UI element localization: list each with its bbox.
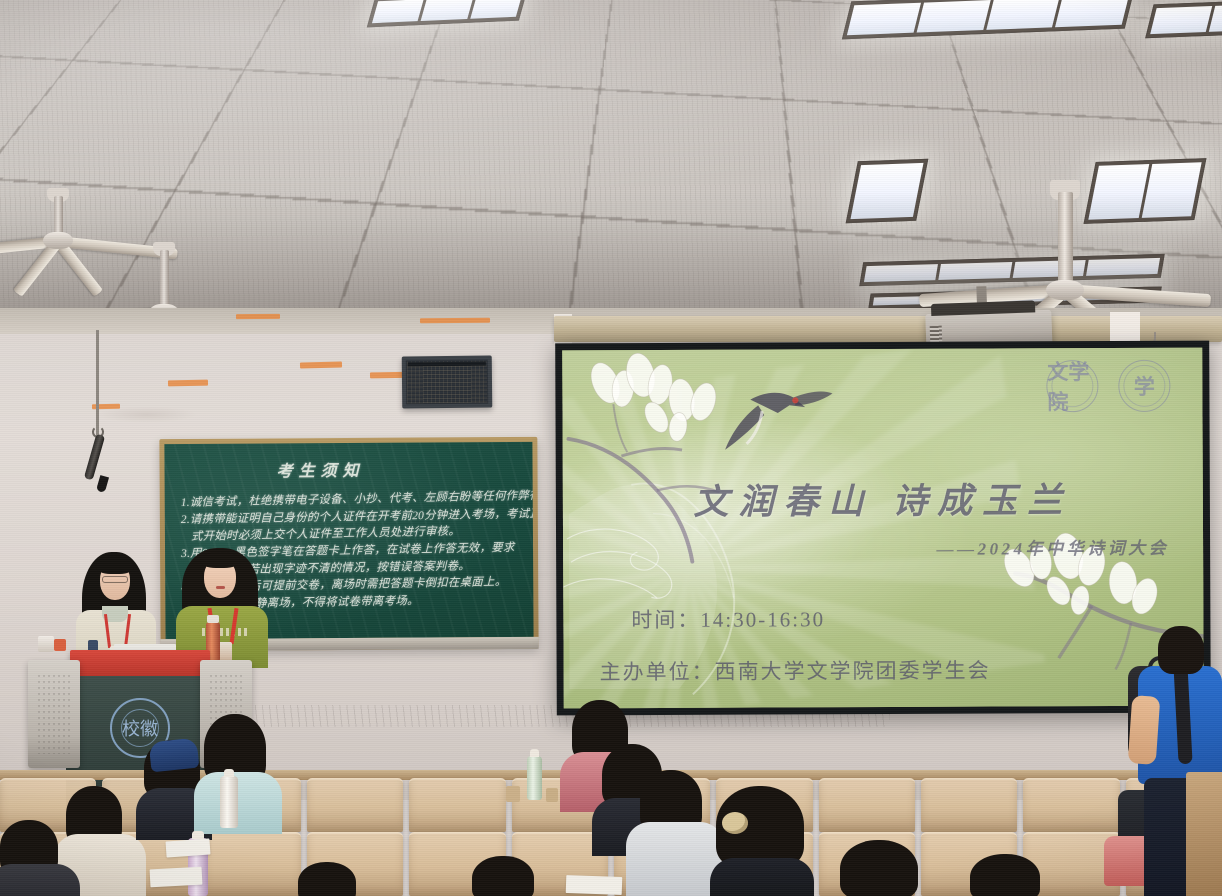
- audience-member: [0, 820, 70, 896]
- fan-hub: [43, 232, 73, 249]
- fan-rod: [1058, 192, 1073, 288]
- ceiling-fan: [8, 196, 108, 316]
- fan-rod: [160, 250, 169, 310]
- slide-time-line: 时间：14:30-16:30: [631, 603, 825, 634]
- audience-member: [968, 854, 1042, 896]
- wall-tape-mark: [420, 318, 490, 324]
- presenter-right: [176, 546, 268, 666]
- blackboard-title: 考生须知: [276, 457, 364, 482]
- blackboard-rule: 1.诚信考试，杜绝携带电子设备、小抄、代考、左顾右盼等任何作弊行为。: [181, 486, 534, 510]
- projector-top-plate: [931, 300, 1035, 316]
- seat[interactable]: [409, 778, 505, 832]
- student-head: [298, 862, 356, 896]
- monitor-screen: [407, 361, 487, 404]
- presenter-fringe: [200, 552, 240, 568]
- wall-tape-mark: [236, 314, 280, 319]
- audience-member: [836, 840, 922, 896]
- student-top: [0, 864, 80, 896]
- slide-title: 文润春山 诗成玉兰: [563, 472, 1203, 526]
- student-top: [710, 858, 814, 896]
- microphone-body: [84, 434, 105, 481]
- presenter-lips: [216, 586, 225, 589]
- presenter-glasses: [102, 576, 128, 583]
- paper-sheet: [165, 838, 210, 857]
- slide-organizer-line: 主办单位：西南大学文学院团委学生会: [600, 655, 991, 687]
- student-head: [970, 854, 1040, 896]
- bottle-cap: [530, 749, 539, 757]
- logo-ring: [1123, 365, 1165, 407]
- bottle-cap: [192, 831, 204, 839]
- audience-member: [296, 862, 356, 896]
- seat[interactable]: [819, 778, 915, 832]
- side-desk: [1186, 772, 1222, 896]
- student-top: [194, 772, 282, 834]
- swallow-bird-icon: [725, 391, 833, 449]
- speaker-mesh: [37, 674, 71, 754]
- paper-cup: [38, 636, 54, 652]
- audience-member: [632, 770, 714, 896]
- audience-member: [712, 786, 808, 896]
- fan-hub: [1046, 280, 1084, 300]
- podium-speaker-left: [28, 660, 80, 768]
- water-bottle: [220, 776, 238, 828]
- bottle-cap: [207, 615, 219, 623]
- hanging-microphone: [88, 330, 106, 510]
- monitor-bezel-bar: [408, 362, 486, 367]
- seat[interactable]: [1023, 778, 1119, 832]
- institution-logo-right: 学: [1118, 360, 1170, 412]
- projection-screen[interactable]: 文学院 学 文润春山 诗成玉兰 ——2024年中华诗词大会 时间：14:30-1…: [555, 341, 1211, 716]
- blackboard-rule: 2.请携带能证明自己身份的个人证件在开考前20分钟进入考场，考试正: [181, 505, 534, 527]
- water-bottle: [527, 756, 542, 800]
- seat[interactable]: [205, 832, 301, 896]
- podium-top-surface: [70, 650, 210, 678]
- student-head: [1158, 626, 1204, 674]
- seat[interactable]: [921, 778, 1017, 832]
- bottle-cap: [224, 769, 235, 777]
- screen-roller-end-right: [1110, 312, 1140, 344]
- slide-subtitle: ——2024年中华诗词大会: [937, 534, 1170, 560]
- hair-clip: [722, 812, 748, 834]
- logo-ring: [1051, 365, 1093, 407]
- student-arm: [1128, 695, 1161, 765]
- seat[interactable]: [307, 778, 403, 832]
- wall-display-monitor[interactable]: [402, 356, 493, 409]
- presenter-fringe: [96, 556, 134, 574]
- lecture-hall-scene: 考生须知 1.诚信考试，杜绝携带电子设备、小抄、代考、左顾右盼等任何作弊行为。 …: [0, 0, 1222, 896]
- paper-sheet: [566, 875, 623, 895]
- audience-member: [470, 856, 536, 896]
- wall-tape-mark: [300, 361, 342, 368]
- blackboard-rule: 式开始时必须上交个人证件至工作人员处进行审核。: [191, 523, 460, 544]
- slide-content: 文学院 学 文润春山 诗成玉兰 ——2024年中华诗词大会 时间：14:30-1…: [562, 348, 1204, 709]
- institution-logo-left: 文学院: [1046, 360, 1098, 412]
- wall-tape-mark: [168, 380, 208, 387]
- hair-bow: [149, 738, 200, 773]
- small-box: [54, 639, 66, 651]
- desk-item-box: [546, 788, 558, 802]
- paper-sheet: [150, 867, 203, 888]
- desk-item-box: [506, 786, 520, 802]
- student-head: [472, 856, 534, 896]
- student-head: [840, 840, 918, 896]
